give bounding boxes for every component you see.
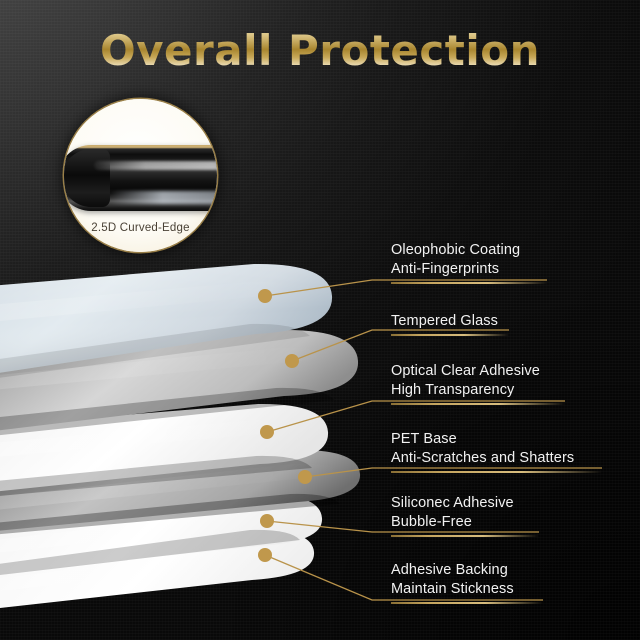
label-tempered-glass: Tempered Glass [391,312,509,336]
label-oleophobic-underline [391,282,547,284]
label-tempered-glass-line1: Tempered Glass [391,313,498,329]
label-oleophobic: Oleophobic CoatingAnti-Fingerprints [391,241,547,284]
label-optical-clear-adhesive-line2: High Transparency [391,381,565,400]
layer-stack [0,0,640,640]
label-pet-base: PET BaseAnti-Scratches and Shatters [391,430,602,473]
label-siliconec-adhesive-line1: Siliconec Adhesive [391,495,514,511]
label-pet-base-line2: Anti-Scratches and Shatters [391,449,602,468]
label-oleophobic-line2: Anti-Fingerprints [391,260,547,279]
label-optical-clear-adhesive-underline [391,403,565,405]
phone-edge-curve [64,149,110,207]
label-pet-base-underline [391,471,602,473]
label-siliconec-adhesive-underline [391,535,539,537]
label-optical-clear-adhesive: Optical Clear AdhesiveHigh Transparency [391,362,565,405]
curved-edge-zoom-inset: 2.5D Curved-Edge [64,99,217,252]
edge-highlight-top [94,161,217,170]
label-pet-base-line1: PET Base [391,431,457,447]
inset-caption: 2.5D Curved-Edge [64,222,217,234]
infographic-canvas: Overall Protection 2.5D Curved-Edge Oleo… [0,0,640,640]
label-tempered-glass-underline [391,334,509,336]
label-adhesive-backing-underline [391,602,543,604]
label-siliconec-adhesive: Siliconec AdhesiveBubble-Free [391,494,539,537]
label-siliconec-adhesive-line2: Bubble-Free [391,513,539,532]
label-oleophobic-line1: Oleophobic Coating [391,242,520,258]
edge-highlight-bottom [110,191,217,204]
label-adhesive-backing-line2: Maintain Stickness [391,580,543,599]
page-title: Overall Protection [0,26,640,75]
label-adhesive-backing: Adhesive BackingMaintain Stickness [391,561,543,604]
label-adhesive-backing-line1: Adhesive Backing [391,562,508,578]
label-optical-clear-adhesive-line1: Optical Clear Adhesive [391,363,540,379]
